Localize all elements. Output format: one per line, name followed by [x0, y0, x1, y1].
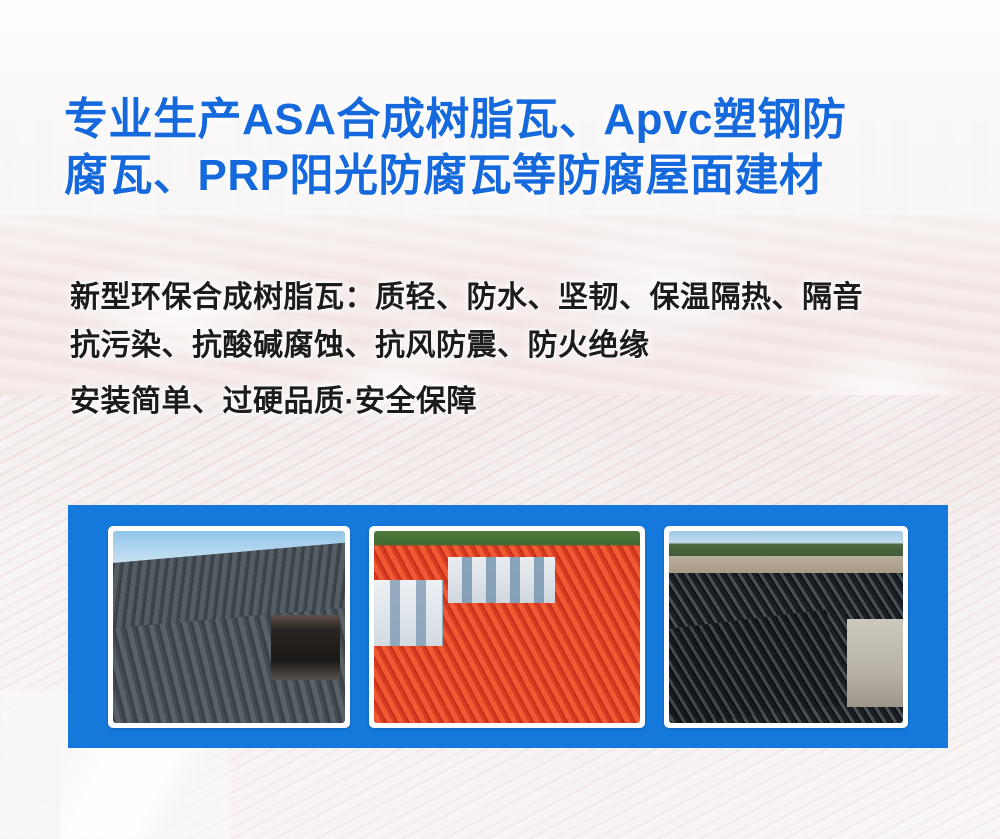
- subheadline: 新型环保合成树脂瓦：质轻、防水、坚韧、保温隔热、隔音 抗污染、抗酸碱腐蚀、抗风防…: [70, 274, 970, 426]
- headline-line-1: 专业生产ASA合成树脂瓦、Apvc塑钢防: [64, 92, 944, 148]
- subheadline-line-3: 安装简单、过硬品质·安全保障: [70, 378, 970, 426]
- headline: 专业生产ASA合成树脂瓦、Apvc塑钢防 腐瓦、PRP阳光防腐瓦等防腐屋面建材: [64, 92, 944, 204]
- product-photo-card-3: [664, 526, 908, 728]
- dark-grey-resin-tile-roof-photo: [113, 531, 345, 723]
- product-photo-card-2: [369, 526, 645, 728]
- subheadline-line-2: 抗污染、抗酸碱腐蚀、抗风防震、防火绝缘: [70, 322, 970, 370]
- background-ridge-cap: [60, 735, 360, 839]
- red-resin-tile-roof-photo: [374, 531, 640, 723]
- black-resin-tile-roof-photo: [669, 531, 903, 723]
- promo-banner: 专业生产ASA合成树脂瓦、Apvc塑钢防 腐瓦、PRP阳光防腐瓦等防腐屋面建材 …: [0, 0, 1000, 839]
- subheadline-line-1: 新型环保合成树脂瓦：质轻、防水、坚韧、保温隔热、隔音: [70, 274, 970, 322]
- product-gallery-panel: [68, 505, 948, 748]
- product-photo-card-1: [108, 526, 350, 728]
- headline-line-2: 腐瓦、PRP阳光防腐瓦等防腐屋面建材: [64, 148, 944, 204]
